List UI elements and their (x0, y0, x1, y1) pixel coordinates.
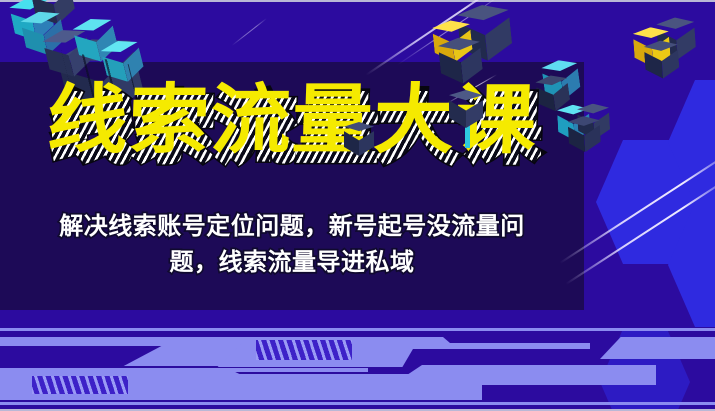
cube-cluster-right-edge (557, 103, 617, 154)
cube-icon (643, 39, 680, 79)
poster-title-wrap: 线索流量大课 线索流量大课 线索流量大课 线索流量大课 (0, 82, 584, 158)
cube-cluster-top-yellow (428, 2, 521, 87)
cube-icon (567, 115, 601, 153)
tech-line-1 (0, 328, 715, 331)
subtitle-line-1: 解决线索账号定位问题，新号起号没流量问 (0, 208, 584, 244)
tech-line-3 (0, 402, 715, 405)
tech-stripe-graphic (0, 310, 715, 411)
cube-on-title (447, 90, 493, 150)
poster-subtitle: 解决线索账号定位问题，新号起号没流量问 题，线索流量导进私域 (0, 208, 584, 280)
subtitle-line-2: 题，线索流量导进私域 (0, 244, 584, 280)
cube-icon (449, 90, 483, 128)
top-divider-line (0, 0, 715, 2)
course-poster: 线索流量大课 线索流量大课 线索流量大课 线索流量大课 解决线索账号定位问题，新… (0, 0, 715, 411)
tech-bar-1e (395, 343, 590, 349)
cube-icon (344, 122, 374, 156)
tech-bar-1f (600, 337, 715, 359)
tech-bar-2e (356, 376, 420, 386)
tech-bar-3a (0, 394, 176, 400)
cube-small-mid (344, 122, 378, 160)
tech-hatch-2 (32, 376, 128, 396)
tech-hatch-1 (256, 340, 352, 360)
cube-cluster-topright (632, 16, 706, 83)
